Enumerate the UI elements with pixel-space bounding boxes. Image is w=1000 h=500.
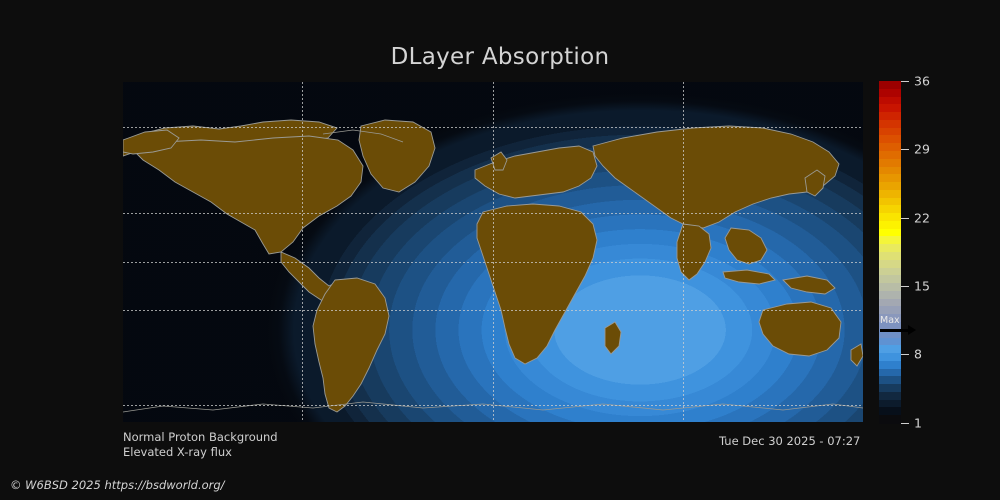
colorbar-tick-label: 36 xyxy=(914,74,930,89)
colorbar-tick-label: 1 xyxy=(914,416,922,431)
credit-line: © W6BSD 2025 https://bsdworld.org/ xyxy=(10,478,225,492)
colorbar-tick-mark xyxy=(901,218,909,219)
colorbar-tick-label: 8 xyxy=(914,347,922,362)
colorbar-tick-label: 15 xyxy=(914,279,930,294)
timestamp: Tue Dec 30 2025 - 07:27 xyxy=(719,434,860,448)
colorbar-tick-label: 29 xyxy=(914,142,930,157)
max-arrow-shaft xyxy=(880,329,910,332)
note-xray-flux: Elevated X-ray flux xyxy=(123,445,232,459)
colorbar-segment xyxy=(879,415,901,423)
plot-root: DLayer Absorption xyxy=(0,0,1000,500)
max-marker-label: Max xyxy=(880,316,900,326)
page-title: DLayer Absorption xyxy=(0,44,1000,70)
colorbar-ticks: 36 29 22 15 8 1 xyxy=(901,70,961,434)
gridline-lon-90E xyxy=(683,82,684,422)
colorbar xyxy=(879,81,901,423)
colorbar-gradient xyxy=(879,81,901,423)
note-proton-background: Normal Proton Background xyxy=(123,430,278,444)
colorbar-tick-mark xyxy=(901,81,909,82)
graticule xyxy=(123,82,863,422)
max-marker: Max xyxy=(879,316,939,342)
colorbar-tick-mark xyxy=(901,423,909,424)
colorbar-tick-mark xyxy=(901,286,909,287)
colorbar-tick-mark xyxy=(901,354,909,355)
colorbar-tick-label: 22 xyxy=(914,211,930,226)
colorbar-tick-mark xyxy=(901,149,909,150)
max-arrow-head xyxy=(908,325,916,335)
gridline-lon-0 xyxy=(493,82,494,422)
gridline-lon-90W xyxy=(302,82,303,422)
world-map xyxy=(123,82,863,422)
